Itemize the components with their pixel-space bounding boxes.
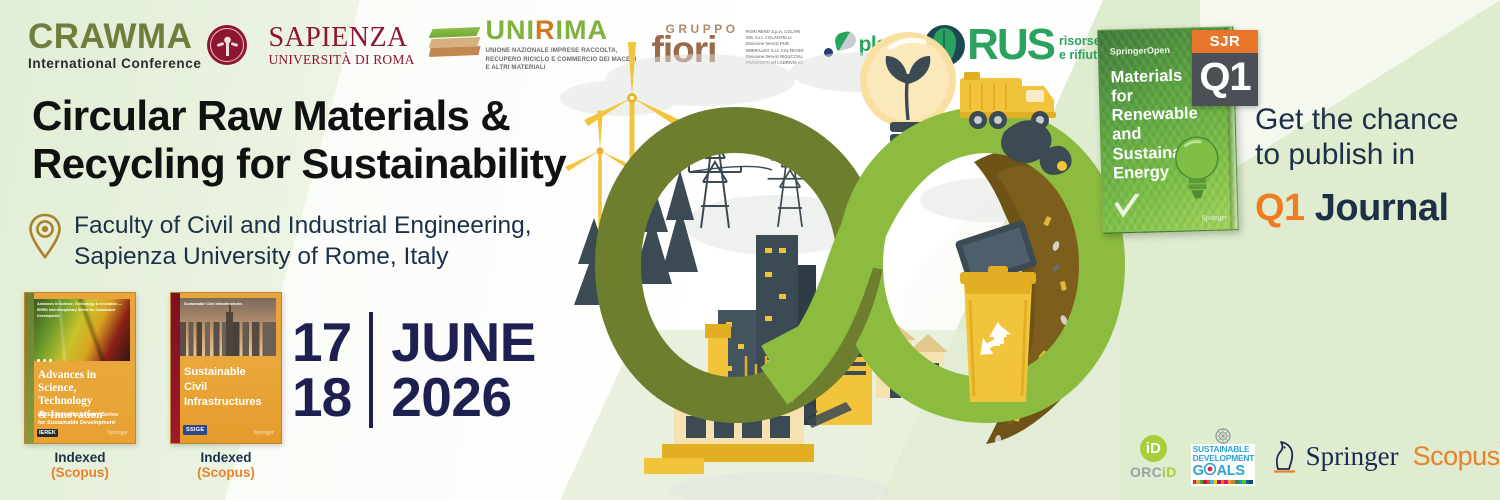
book-sustainable-civil-infrastructures: Sustainable Civil Infrastructures Sustai… xyxy=(170,292,282,480)
book2-caption: Indexed (Scopus) xyxy=(170,450,282,480)
cta-line2: to publish in xyxy=(1255,137,1495,172)
book2-publisher: Springer xyxy=(253,430,274,436)
springer-wordmark: Springer xyxy=(1306,441,1399,472)
conference-dates: 17 18 JUNE 2026 xyxy=(292,312,536,428)
date-month: JUNE xyxy=(391,315,536,370)
book1-publisher: Springer xyxy=(107,430,128,436)
springer-horse-icon xyxy=(1269,440,1301,474)
sjr-label: SJR xyxy=(1192,30,1258,53)
journal-check-icon xyxy=(1114,194,1141,221)
unirima-paper-stack-icon xyxy=(429,27,481,63)
venue-line2: Sapienza University of Rome, Italy xyxy=(74,241,532,272)
venue-line1: Faculty of Civil and Industrial Engineer… xyxy=(74,210,532,241)
circular-economy-illustration xyxy=(560,20,1160,500)
logo-sdg: SUSTAINABLE DEVELOPMENT G ALS xyxy=(1191,428,1255,486)
orcid-wordmark: ORCiD xyxy=(1130,465,1177,479)
book2-header-text: Sustainable Civil Infrastructures xyxy=(184,301,273,307)
logo-orcid: iD ORCiD xyxy=(1130,435,1177,479)
logo-springer: Springer xyxy=(1269,440,1399,474)
book1-header-text: Advances in Science, Technology & Innova… xyxy=(37,301,127,319)
crawma-wordmark: CRAWMA xyxy=(28,19,201,54)
publish-cta: Get the chance to publish in Q1 Journal xyxy=(1255,102,1495,230)
date-divider xyxy=(369,312,373,428)
cta-q1-journal: Q1 Journal xyxy=(1255,187,1495,230)
sapienza-seal-icon xyxy=(207,25,247,65)
date-year: 2026 xyxy=(391,370,536,425)
venue-address: Faculty of Civil and Industrial Engineer… xyxy=(74,210,532,273)
crawma-subtitle: International Conference xyxy=(28,57,201,71)
book2-title: SustainableCivilInfrastructures xyxy=(184,365,273,410)
book2-series-logo: SSIGE xyxy=(183,425,207,435)
sapienza-subtitle: UNIVERSITÀ DI ROMA xyxy=(268,53,414,67)
location-pin-icon xyxy=(28,213,62,259)
orcid-id-icon: iD xyxy=(1140,435,1167,462)
journal-brand: SpringerOpen xyxy=(1110,45,1170,57)
date-day-end: 18 xyxy=(292,370,351,425)
book1-caption: Indexed (Scopus) xyxy=(24,450,136,480)
logo-crawma: CRAWMA International Conference xyxy=(28,19,247,71)
cta-text: Get the chance to publish in xyxy=(1255,102,1495,173)
venue-block: Faculty of Civil and Industrial Engineer… xyxy=(28,210,648,273)
date-day-start: 17 xyxy=(292,315,351,370)
sjr-q1-badge: SJR Q1 xyxy=(1192,30,1258,106)
scopus-wordmark: Scopus® xyxy=(1413,441,1500,472)
recycling-bin-icon xyxy=(955,220,1040,402)
journal-lightbulb-icon xyxy=(1170,134,1224,201)
sjr-rank: Q1 xyxy=(1192,53,1258,106)
book1-subtitle: IEREK Interdisciplinary Series for Susta… xyxy=(38,411,125,428)
un-emblem-icon xyxy=(1191,428,1255,444)
journal-publisher: Springer xyxy=(1201,212,1227,222)
sdg-line3: G ALS xyxy=(1193,463,1253,479)
book1-series-logo: IEREK xyxy=(37,429,58,437)
logo-sapienza: SAPIENZA UNIVERSITÀ DI ROMA xyxy=(261,23,414,67)
conference-banner: CRAWMA International Conference SAPIENZA… xyxy=(0,0,1500,500)
sdg-color-bar xyxy=(1193,480,1253,484)
indexing-logo-row: iD ORCiD SUSTAINABLE DEVELOPMENT G xyxy=(1130,428,1500,486)
sapienza-name: SAPIENZA xyxy=(268,23,414,52)
cta-line1: Get the chance xyxy=(1255,102,1495,137)
book-advances-in-science: Advances in Science, Technology & Innova… xyxy=(24,292,136,480)
sdg-line2: DEVELOPMENT xyxy=(1193,454,1253,463)
book-cover-image: Advances in Science, Technology & Innova… xyxy=(24,292,136,444)
book-cover-image: Sustainable Civil Infrastructures Sustai… xyxy=(170,292,282,444)
